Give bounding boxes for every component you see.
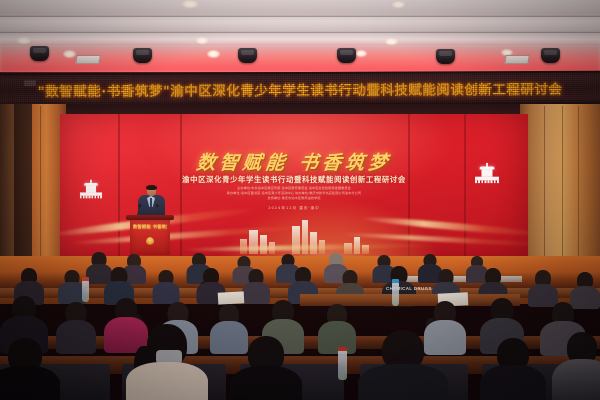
water-bottle <box>392 282 399 306</box>
audience-member <box>528 270 558 304</box>
led-panel-chip <box>24 80 36 86</box>
led-banner-text: "数智赋能·书香筑梦"渝中区深化青少年学生读书行动暨科技赋能阅读创新工程研讨会 <box>38 78 563 100</box>
pavilion-emblem-right <box>473 163 501 183</box>
overhead-led-banner: "数智赋能·书香筑梦"渝中区深化青少年学生读书行动暨科技赋能阅读创新工程研讨会 <box>0 71 600 108</box>
presenter <box>136 186 166 218</box>
downlight <box>17 37 31 44</box>
backdrop-subtitle: 渝中区深化青少年学生读书行动暨科技赋能阅读创新工程研讨会 <box>180 174 408 185</box>
water-bottle <box>338 350 347 380</box>
ceiling-vent <box>75 55 100 64</box>
audience-member-foreground <box>126 324 208 400</box>
presenter-hair <box>146 185 157 190</box>
hall-ceiling <box>0 0 600 72</box>
stage-spotlight <box>337 48 356 63</box>
downlight <box>196 37 208 44</box>
conference-hall-photo: "数智赋能·书香筑梦"渝中区深化青少年学生读书行动暨科技赋能阅读创新工程研讨会 <box>0 0 600 400</box>
pavilion-emblem-left <box>78 180 104 199</box>
audience-member-foreground <box>0 338 60 400</box>
podium-emblem-icon <box>146 237 154 246</box>
backdrop-title: 数智赋能 书香筑梦 <box>178 148 409 175</box>
podium: 数智赋能 书香筑梦 <box>128 215 172 255</box>
stage-spotlight <box>436 49 455 64</box>
downlight <box>182 0 198 8</box>
city-skyline-graphic <box>236 218 396 254</box>
ceiling-vent <box>504 55 529 64</box>
downlight <box>207 50 220 58</box>
ceiling-bay <box>0 0 600 16</box>
audience-member <box>242 269 270 302</box>
stage-spotlight <box>133 48 152 63</box>
stage-spotlight <box>30 46 49 61</box>
left-wall-recess <box>14 104 32 276</box>
ceiling-bay <box>0 17 600 32</box>
stage-spotlight <box>541 48 560 63</box>
downlight <box>63 50 76 58</box>
audience-member <box>570 272 600 306</box>
handout-paper <box>218 291 245 304</box>
downlight <box>392 1 405 8</box>
downlight <box>385 38 398 45</box>
audience-member-foreground <box>480 338 546 400</box>
presenter-tie <box>150 198 152 207</box>
podium-plate-text: 数智赋能 书香筑梦 <box>133 224 167 230</box>
audience-member <box>152 270 179 302</box>
audience-member-foreground <box>552 332 600 400</box>
audience-member-foreground <box>230 336 302 400</box>
audience-member-foreground <box>358 330 448 400</box>
audience-member <box>318 304 356 352</box>
water-bottle <box>82 280 89 302</box>
audience-member <box>56 302 96 352</box>
backdrop-organizer-line-1: 主办单位:中共渝中区委宣传部 渝中区教育委员会 渝中区文化和旅游发展委员会 <box>180 186 408 190</box>
backdrop-organizer-line-2: 承办单位:渝中区图书馆 渝中区青少年活动中心 协办单位:重庆市新华书店集团公司渝… <box>180 191 408 195</box>
stage-spotlight <box>238 48 257 63</box>
downlight <box>355 50 367 57</box>
